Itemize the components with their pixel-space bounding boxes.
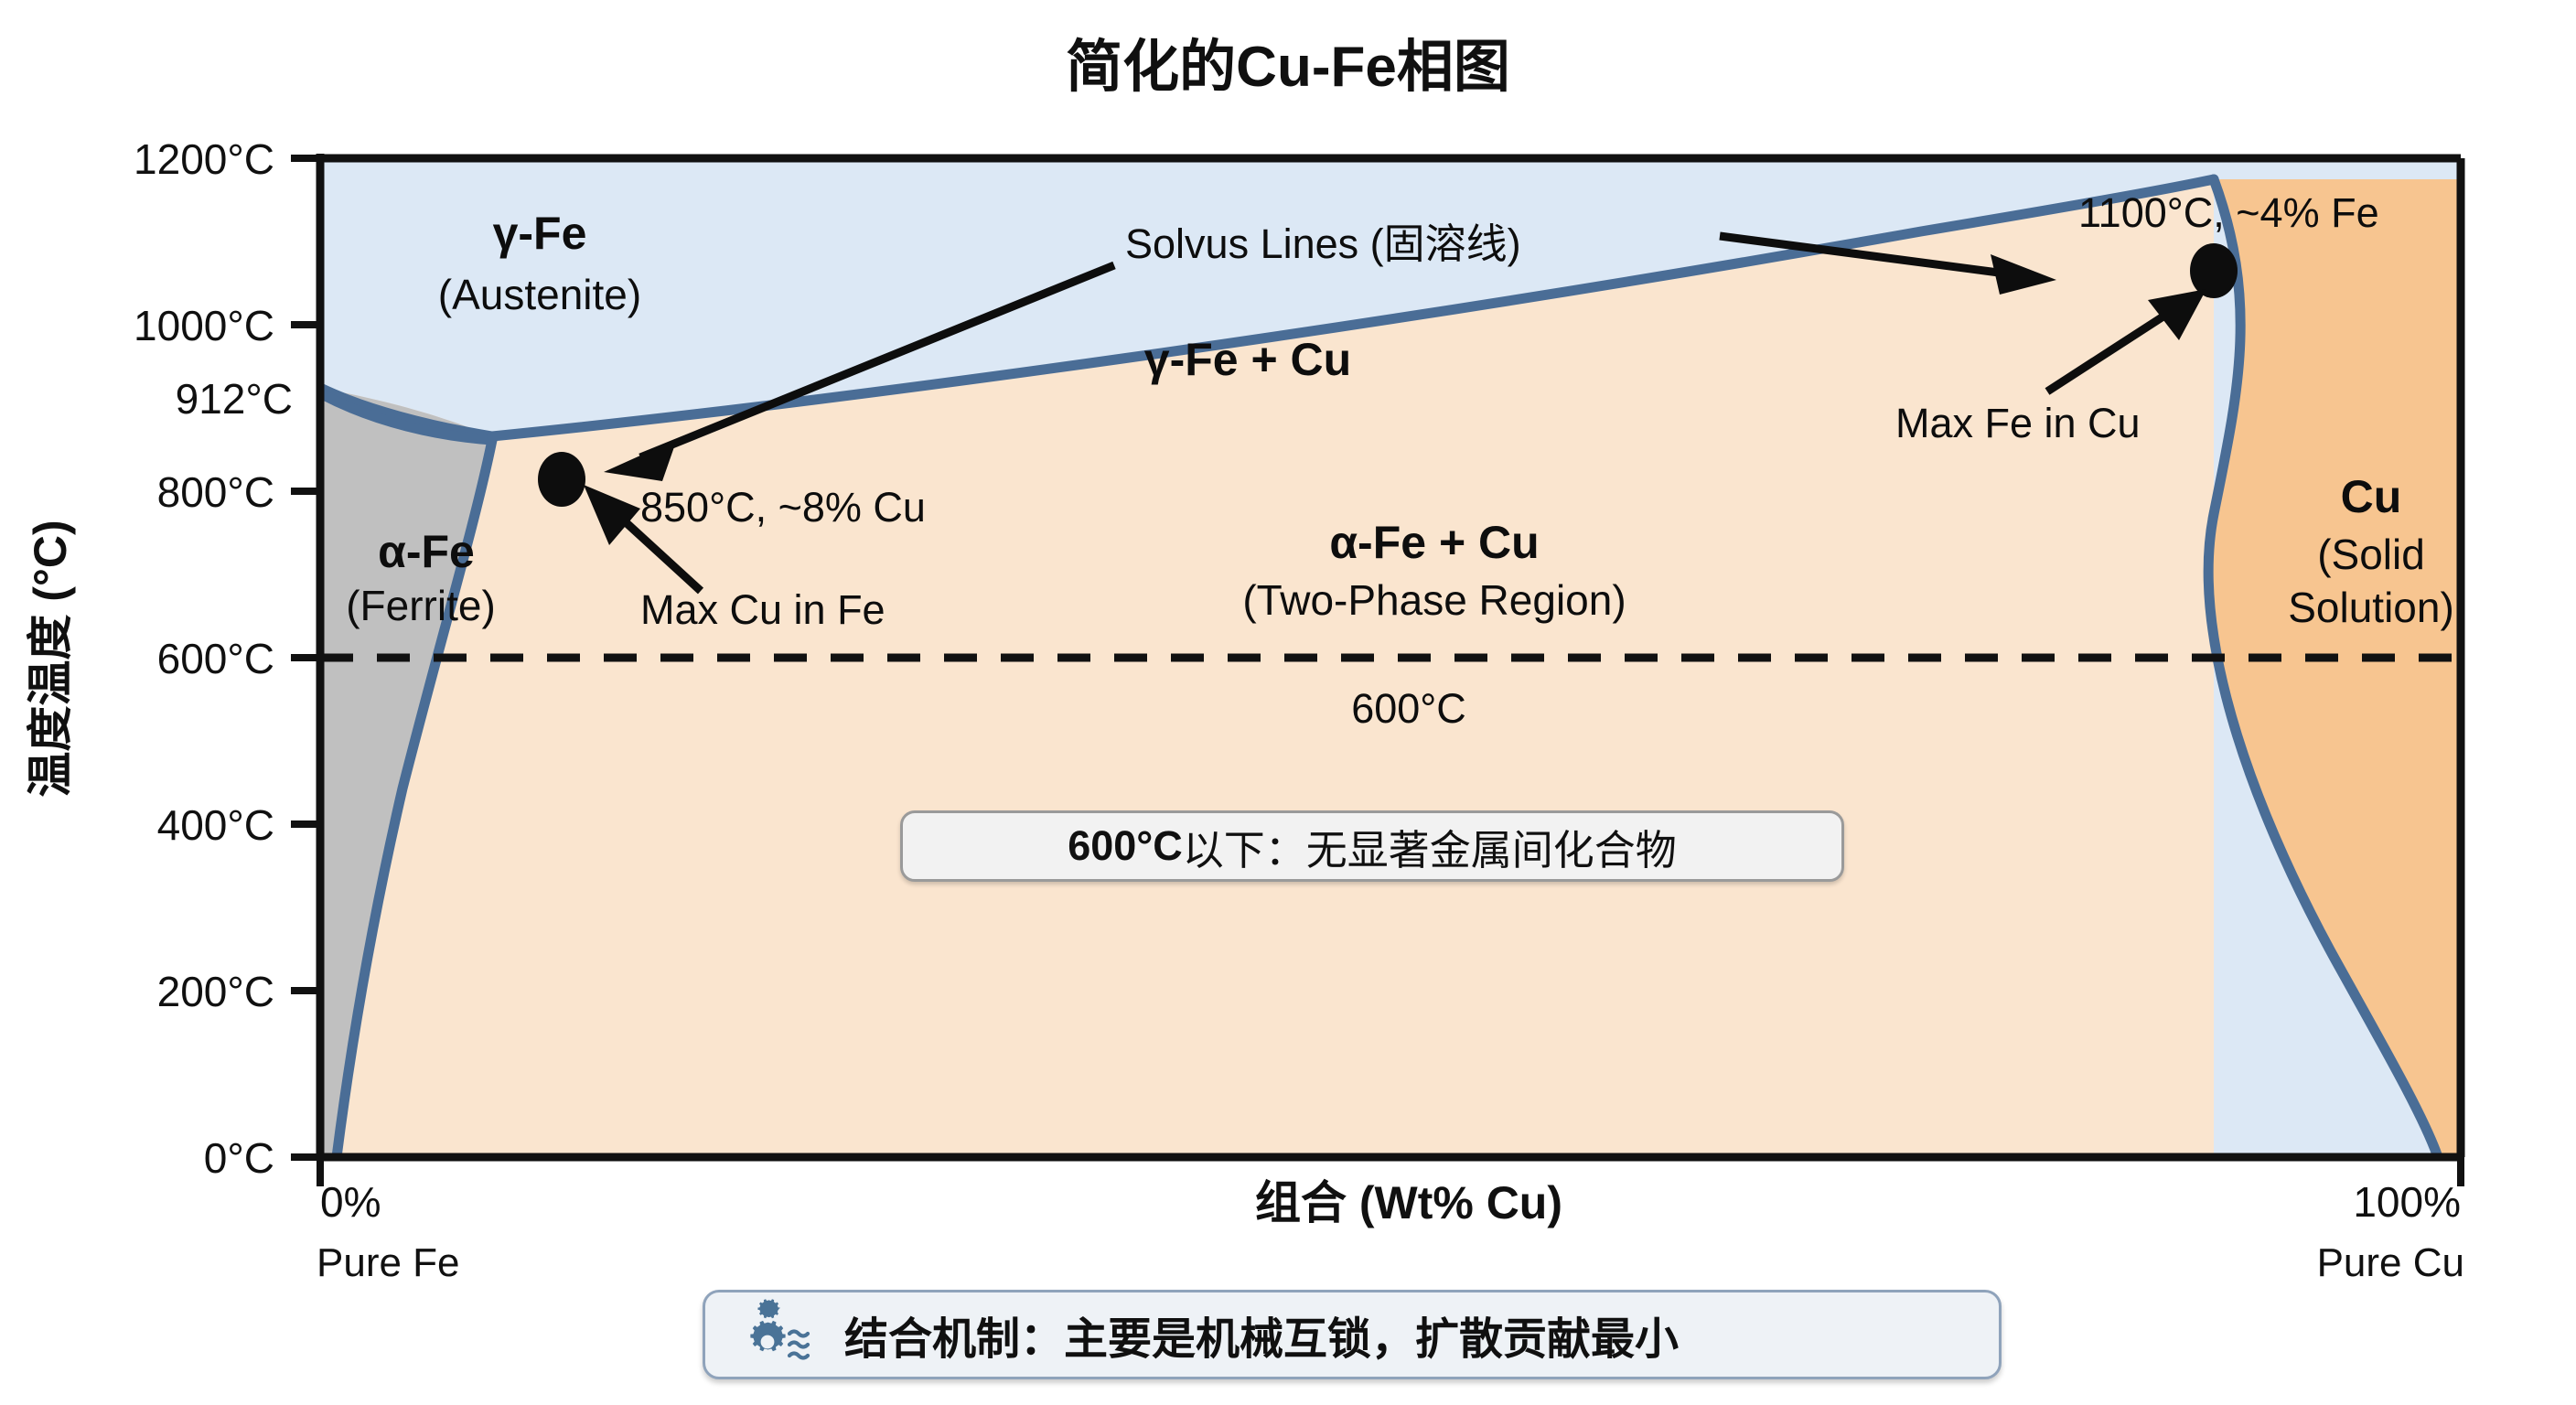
footer-banner: 结合机制：主要是机械互锁，扩散贡献最小 [703,1290,2002,1379]
label-max-fe-in-cu: Max Fe in Cu [1895,400,2141,446]
y-axis-title: 温度温度 (°C) [25,520,76,797]
x-axis-title: 组合 (Wt% Cu) [1255,1177,1562,1228]
y-tick-label-200: 200°C [157,968,274,1015]
y-tick-label-600: 600°C [157,635,274,682]
x-caption-pure-fe: Pure Fe [317,1240,460,1285]
label-austenite: (Austenite) [438,271,641,318]
label-gamma-fe-plus-cu: γ-Fe + Cu [1144,334,1351,385]
label-gamma-fe: γ-Fe [493,208,587,259]
label-cu: Cu [2341,471,2402,522]
footer-text: 结合机制：主要是机械互锁，扩散贡献最小 [844,1303,1679,1367]
label-two-phase-sub: (Two-Phase Region) [1242,576,1626,624]
y-tick-label-800: 800°C [157,468,274,516]
label-cu-sub1: (Solid [2317,531,2425,578]
label-max-cu-in-fe: Max Cu in Fe [640,586,885,633]
note-box: 600°C以下：无显著金属间化合物 [900,810,1844,882]
x-tick-label-0: 0% [320,1178,381,1226]
phase-diagram: 1200°C 1000°C 912°C 800°C 600°C 400°C 20… [0,0,2576,1405]
y-tick-label-1200: 1200°C [134,135,274,183]
label-alpha-fe: α-Fe [378,526,475,577]
y-tick-label-0: 0°C [204,1134,274,1182]
label-cu-sub2: Solution) [2288,584,2454,631]
y-tick-label-400: 400°C [157,801,274,849]
gear-waves-icon [742,1299,821,1370]
label-solvus-lines: Solvus Lines (固溶线) [1125,220,1521,267]
note-box-bold: 600°C [1068,822,1183,870]
label-850c-8pct-cu: 850°C, ~8% Cu [640,484,926,531]
point-max-cu-in-fe [538,452,585,507]
label-dashed-600c: 600°C [1351,685,1466,732]
y-tick-label-912: 912°C [176,375,293,423]
point-max-fe-in-cu [2190,243,2238,298]
label-ferrite: (Ferrite) [346,582,496,629]
x-tick-label-100: 100% [2353,1178,2461,1226]
y-tick-label-1000: 1000°C [134,302,274,349]
note-box-rest: 以下：无显著金属间化合物 [1183,817,1677,876]
label-1100c-4pct-fe: 1100°C, ~4% Fe [2078,189,2379,236]
label-two-phase: α-Fe + Cu [1329,517,1539,568]
x-caption-pure-cu: Pure Cu [2317,1240,2464,1285]
